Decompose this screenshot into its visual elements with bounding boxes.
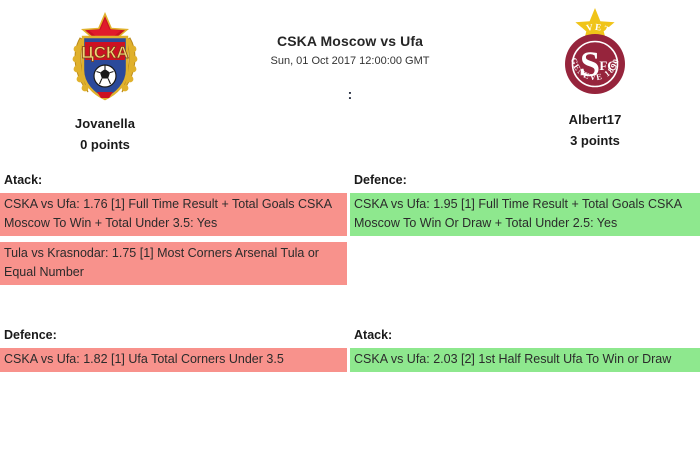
servette-crest-svg: SERVETTE GENEVE 1890 S FC xyxy=(555,6,635,102)
bet-item: CSKA vs Ufa: 1.95 [1] Full Time Result +… xyxy=(350,193,700,236)
section-2-left-column: Defence: CSKA vs Ufa: 1.82 [1] Ufa Total… xyxy=(0,328,350,372)
away-player-points: 3 points xyxy=(570,133,620,148)
cska-crest-svg: ЦСКА xyxy=(68,12,142,104)
away-crest-wrap: SERVETTE GENEVE 1890 S FC xyxy=(555,4,635,104)
cska-crest-text: ЦСКА xyxy=(81,43,128,62)
cska-moscow-crest: ЦСКА xyxy=(68,12,142,104)
section-2-right-column: Atack: CSKA vs Ufa: 2.03 [2] 1st Half Re… xyxy=(350,328,700,372)
home-player-points: 0 points xyxy=(80,137,130,152)
section-1-right-heading: Defence: xyxy=(350,173,700,193)
bet-section-2: Defence: CSKA vs Ufa: 1.82 [1] Ufa Total… xyxy=(0,328,700,372)
servette-s-letter: S xyxy=(580,44,600,84)
match-center: CSKA Moscow vs Ufa Sun, 01 Oct 2017 12:0… xyxy=(210,0,490,101)
bet-item: CSKA vs Ufa: 1.82 [1] Ufa Total Corners … xyxy=(0,348,347,372)
section-2-right-heading: Atack: xyxy=(350,328,700,348)
section-1-left-column: Atack: CSKA vs Ufa: 1.76 [1] Full Time R… xyxy=(0,173,350,285)
score-separator: : xyxy=(346,87,355,101)
servette-fc-crest: SERVETTE GENEVE 1890 S FC xyxy=(555,6,635,102)
match-title: CSKA Moscow vs Ufa xyxy=(277,33,423,49)
bet-item: CSKA vs Ufa: 1.76 [1] Full Time Result +… xyxy=(0,193,347,236)
home-crest-wrap: ЦСКА xyxy=(68,8,142,108)
bet-section-1: Atack: CSKA vs Ufa: 1.76 [1] Full Time R… xyxy=(0,173,700,285)
section-1-right-column: Defence: CSKA vs Ufa: 1.95 [1] Full Time… xyxy=(350,173,700,285)
bet-item: CSKA vs Ufa: 2.03 [2] 1st Half Result Uf… xyxy=(350,348,700,372)
bet-item: Tula vs Krasnodar: 1.75 [1] Most Corners… xyxy=(0,242,347,285)
section-1-left-heading: Atack: xyxy=(0,173,347,193)
away-side: SERVETTE GENEVE 1890 S FC Albert17 3 poi… xyxy=(490,0,700,148)
home-player-name: Jovanella xyxy=(75,116,135,131)
match-date: Sun, 01 Oct 2017 12:00:00 GMT xyxy=(271,55,430,67)
match-header: ЦСКА Jovanella 0 points CSKA Moscow vs U… xyxy=(0,0,700,165)
away-player-name: Albert17 xyxy=(569,112,622,127)
section-2-left-heading: Defence: xyxy=(0,328,347,348)
scoreline: : xyxy=(336,87,365,101)
servette-fc-letters: FC xyxy=(599,58,616,73)
home-side: ЦСКА Jovanella 0 points xyxy=(0,0,210,152)
